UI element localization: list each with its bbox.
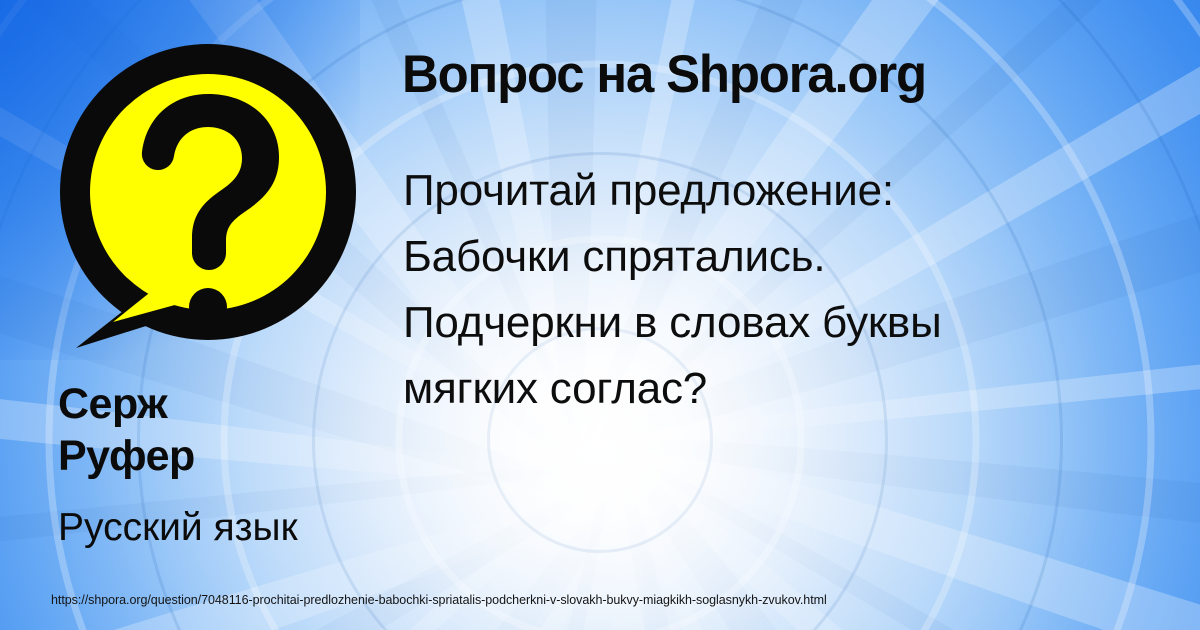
author-last-name: Руфер — [58, 432, 195, 480]
question-share-card: Вопрос на Shpora.org Прочитай предложени… — [0, 0, 1200, 630]
source-url[interactable]: https://shpora.org/question/7048116-proc… — [51, 592, 827, 608]
card-content: Вопрос на Shpora.org Прочитай предложени… — [0, 0, 1200, 630]
question-text: Прочитай предложение: Бабочки спрятались… — [403, 158, 1173, 422]
author-name: Серж Руфер — [58, 378, 388, 482]
subject-label: Русский язык — [58, 505, 398, 551]
page-title: Вопрос на Shpora.org — [402, 44, 926, 106]
question-line-4: мягких соглас? — [403, 356, 1173, 422]
question-line-3: Подчеркни в словах буквы — [403, 290, 1173, 356]
author-first-name: Серж — [58, 380, 167, 428]
question-line-2: Бабочки спрятались. — [403, 224, 1173, 290]
question-speech-bubble-icon — [58, 42, 358, 352]
question-line-1: Прочитай предложение: — [403, 158, 1173, 224]
